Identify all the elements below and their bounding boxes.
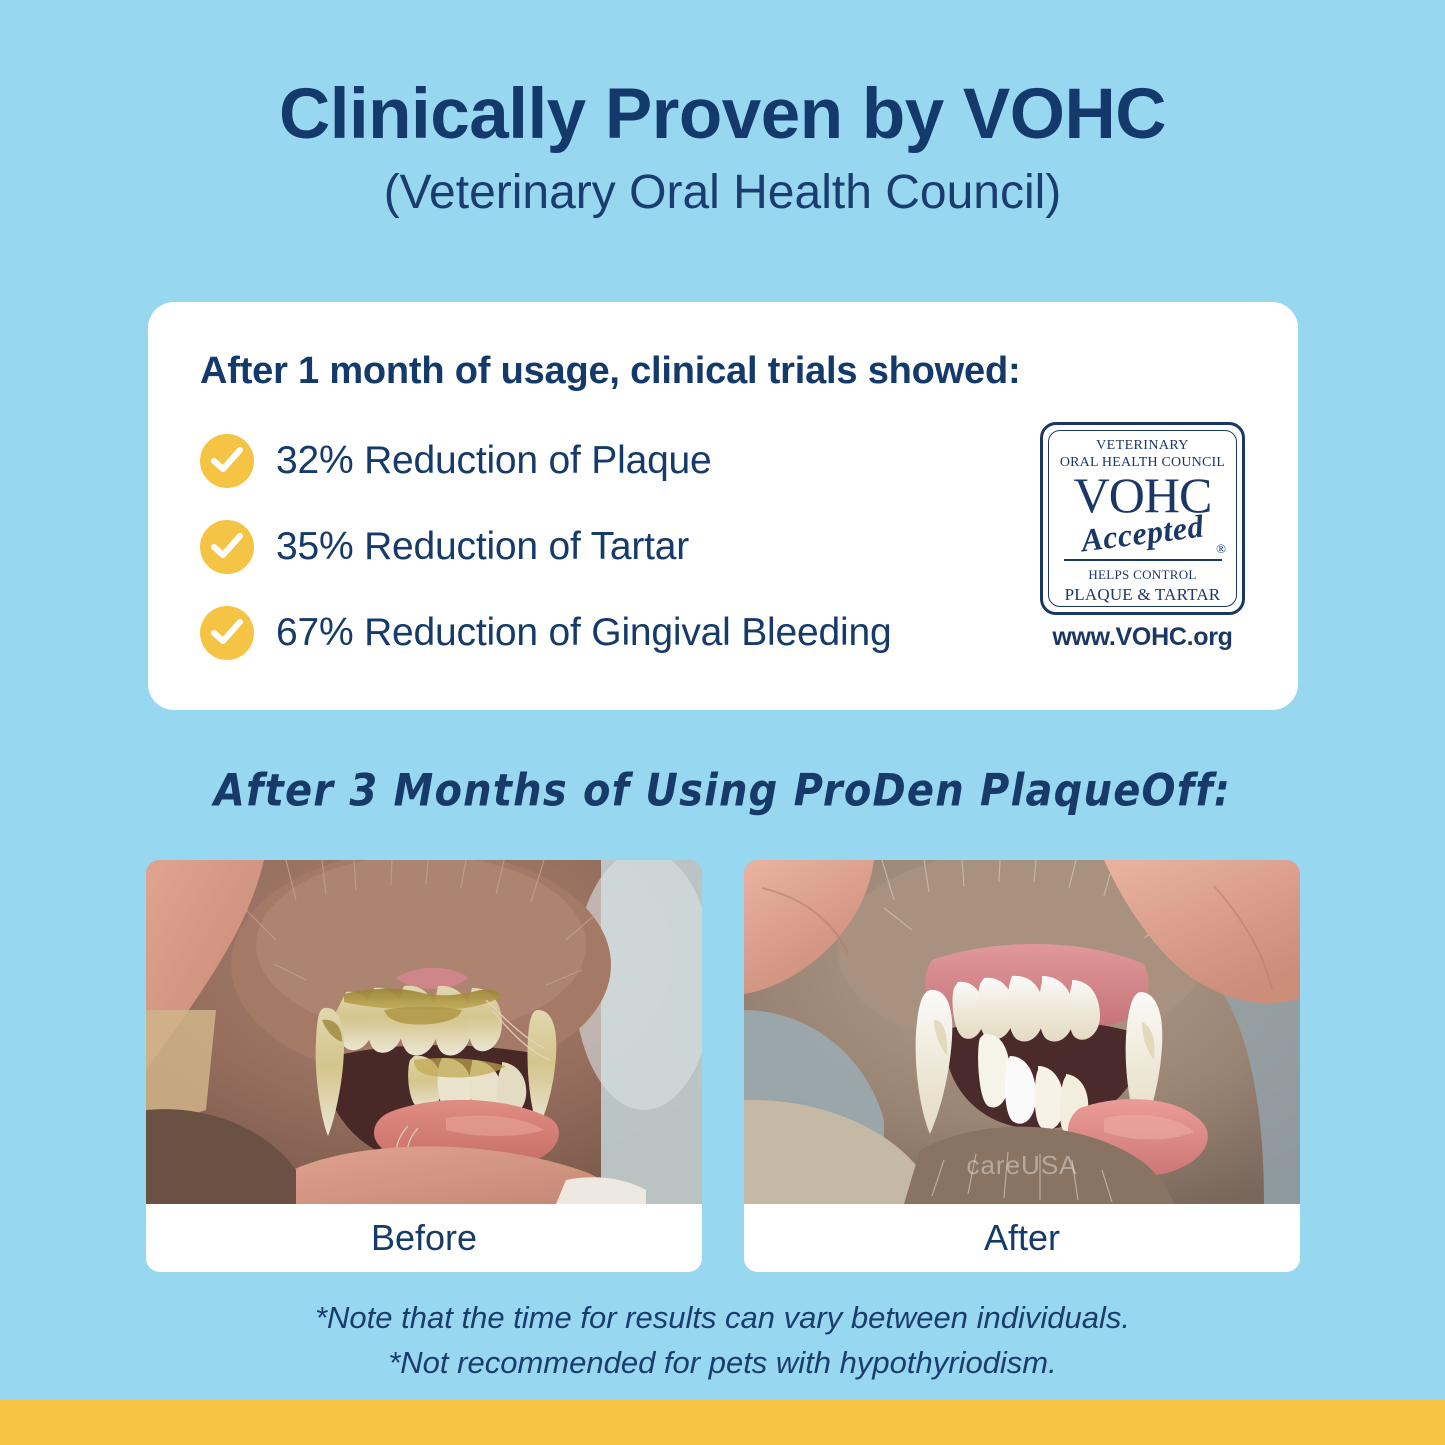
vohc-top-line-1: VETERINARY: [1043, 425, 1242, 453]
vohc-accepted-wrap: Accepted ®: [1043, 515, 1242, 555]
vohc-divider: [1064, 559, 1222, 561]
stat-text: 32% Reduction of Plaque: [276, 439, 712, 483]
vohc-url: www.VOHC.org: [1040, 623, 1245, 652]
stat-text: 67% Reduction of Gingival Bleeding: [276, 611, 891, 655]
before-card: Before: [146, 860, 702, 1272]
before-label: Before: [146, 1204, 702, 1272]
after-photo: careUSA: [744, 860, 1300, 1204]
vohc-accepted-seal: VETERINARY ORAL HEALTH COUNCIL VOHC Acce…: [1040, 422, 1245, 654]
vohc-bottom-line-1: HELPS CONTROL: [1043, 567, 1242, 583]
comparison-heading: After 3 Months of Using ProDen PlaqueOff…: [0, 765, 1445, 817]
clinical-results-heading: After 1 month of usage, clinical trials …: [200, 350, 1020, 393]
list-item: 67% Reduction of Gingival Bleeding: [200, 590, 1030, 676]
list-item: 35% Reduction of Tartar: [200, 504, 1030, 590]
registered-mark-icon: ®: [1216, 541, 1226, 557]
header: Clinically Proven by VOHC (Veterinary Or…: [0, 78, 1445, 219]
bottom-accent-bar: [0, 1400, 1445, 1445]
before-photo: [146, 860, 702, 1204]
page-subtitle: (Veterinary Oral Health Council): [0, 167, 1445, 220]
footnote-2: *Not recommended for pets with hypothyri…: [0, 1341, 1445, 1386]
page-title: Clinically Proven by VOHC: [0, 78, 1445, 153]
list-item: 32% Reduction of Plaque: [200, 418, 1030, 504]
check-icon: [200, 434, 254, 488]
check-icon: [200, 520, 254, 574]
before-after-comparison: Before: [146, 860, 1300, 1272]
footnotes: *Note that the time for results can vary…: [0, 1296, 1445, 1386]
check-icon: [200, 606, 254, 660]
infographic-page: Clinically Proven by VOHC (Veterinary Or…: [0, 0, 1445, 1445]
vohc-seal-box: VETERINARY ORAL HEALTH COUNCIL VOHC Acce…: [1040, 422, 1245, 615]
stat-text: 35% Reduction of Tartar: [276, 525, 689, 569]
vohc-bottom-line-2: PLAQUE & TARTAR: [1043, 585, 1242, 605]
after-card: careUSA After: [744, 860, 1300, 1272]
after-label: After: [744, 1204, 1300, 1272]
clinical-results-card: After 1 month of usage, clinical trials …: [148, 302, 1298, 710]
clinical-results-list: 32% Reduction of Plaque 35% Reduction of…: [200, 418, 1030, 676]
footnote-1: *Note that the time for results can vary…: [0, 1296, 1445, 1341]
